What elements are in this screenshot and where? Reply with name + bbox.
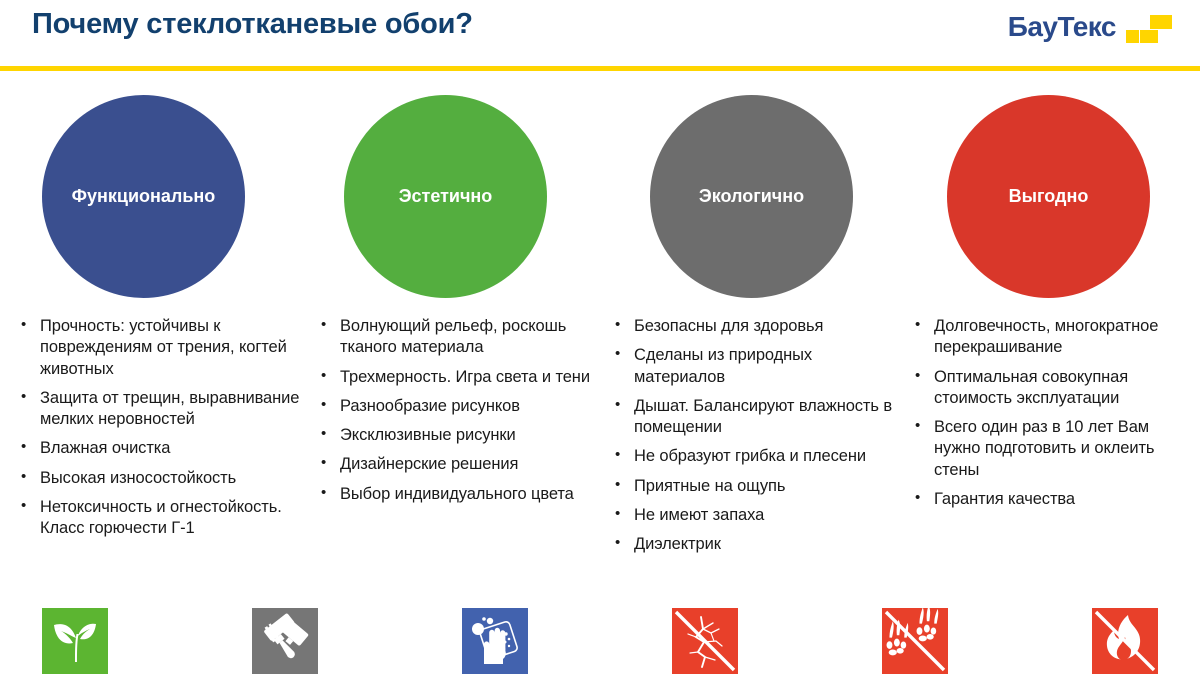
bullet-item: Не имеют запаха	[612, 505, 902, 526]
pillar-circle-functional: Функционально	[42, 95, 245, 298]
bullet-item: Разнообразие рисунков	[318, 396, 593, 417]
bullet-item: Долговечность, многократное перекрашиван…	[912, 316, 1184, 359]
pillar-circles-row: Функционально Эстетично Экологично Выгод…	[0, 95, 1200, 300]
bullet-item: Оптимальная совокупная стоимость эксплуа…	[912, 367, 1184, 410]
pillar-label: Выгодно	[1009, 187, 1089, 207]
bullet-item: Высокая износостойкость	[18, 468, 308, 489]
bullet-item: Прочность: устойчивы к повреждениям от т…	[18, 316, 308, 380]
bullet-item: Сделаны из природных материалов	[612, 345, 902, 388]
no-claw-damage-icon	[882, 608, 948, 674]
paint-roller-icon	[252, 608, 318, 674]
bullet-item: Дышат. Балансируют влажность в помещении	[612, 396, 902, 439]
header-divider	[0, 66, 1200, 71]
slide-header: Почему стеклотканевые обои? БауТекс	[0, 0, 1200, 66]
pillar-label: Функционально	[72, 187, 216, 207]
benefit-column-economical: Долговечность, многократное перекрашиван…	[912, 316, 1184, 518]
bullet-item: Нетоксичность и огнестойкость. Класс гор…	[18, 497, 308, 540]
bullet-item: Дизайнерские решения	[318, 454, 593, 475]
bullet-item: Трехмерность. Игра света и тени	[318, 367, 593, 388]
pillar-label: Эстетично	[399, 187, 493, 207]
benefit-columns: Прочность: устойчивы к повреждениям от т…	[0, 316, 1200, 586]
bullet-item: Эксклюзивные рисунки	[318, 425, 593, 446]
benefit-column-ecological: Безопасны для здоровьяСделаны из природн…	[612, 316, 902, 564]
bullet-item: Безопасны для здоровья	[612, 316, 902, 337]
benefit-column-functional: Прочность: устойчивы к повреждениям от т…	[18, 316, 308, 548]
bullet-item: Волнующий рельеф, роскошь тканого матери…	[318, 316, 593, 359]
bullet-item: Защита от трещин, выравнивание мелких не…	[18, 388, 308, 431]
eco-plant-icon	[42, 608, 108, 674]
page-title: Почему стеклотканевые обои?	[32, 8, 473, 41]
pillar-circle-aesthetic: Эстетично	[344, 95, 547, 298]
pillar-label: Экологично	[699, 187, 804, 207]
brand-mark-icon	[1126, 14, 1172, 44]
no-cracks-icon	[672, 608, 738, 674]
feature-icon-strip	[0, 608, 1200, 678]
benefit-column-aesthetic: Волнующий рельеф, роскошь тканого матери…	[318, 316, 593, 513]
fire-resistant-icon	[1092, 608, 1158, 674]
bullet-item: Влажная очистка	[18, 438, 308, 459]
washable-hand-icon	[462, 608, 528, 674]
bullet-item: Не образуют грибка и плесени	[612, 446, 902, 467]
brand-name: БауТекс	[1008, 11, 1116, 43]
bullet-item: Выбор индивидуального цвета	[318, 484, 593, 505]
bullet-item: Диэлектрик	[612, 534, 902, 555]
bullet-item: Гарантия качества	[912, 489, 1184, 510]
bullet-item: Всего один раз в 10 лет Вам нужно подгот…	[912, 417, 1184, 481]
pillar-circle-economical: Выгодно	[947, 95, 1150, 298]
bullet-item: Приятные на ощупь	[612, 476, 902, 497]
brand-logo: БауТекс	[1008, 10, 1172, 44]
pillar-circle-ecological: Экологично	[650, 95, 853, 298]
